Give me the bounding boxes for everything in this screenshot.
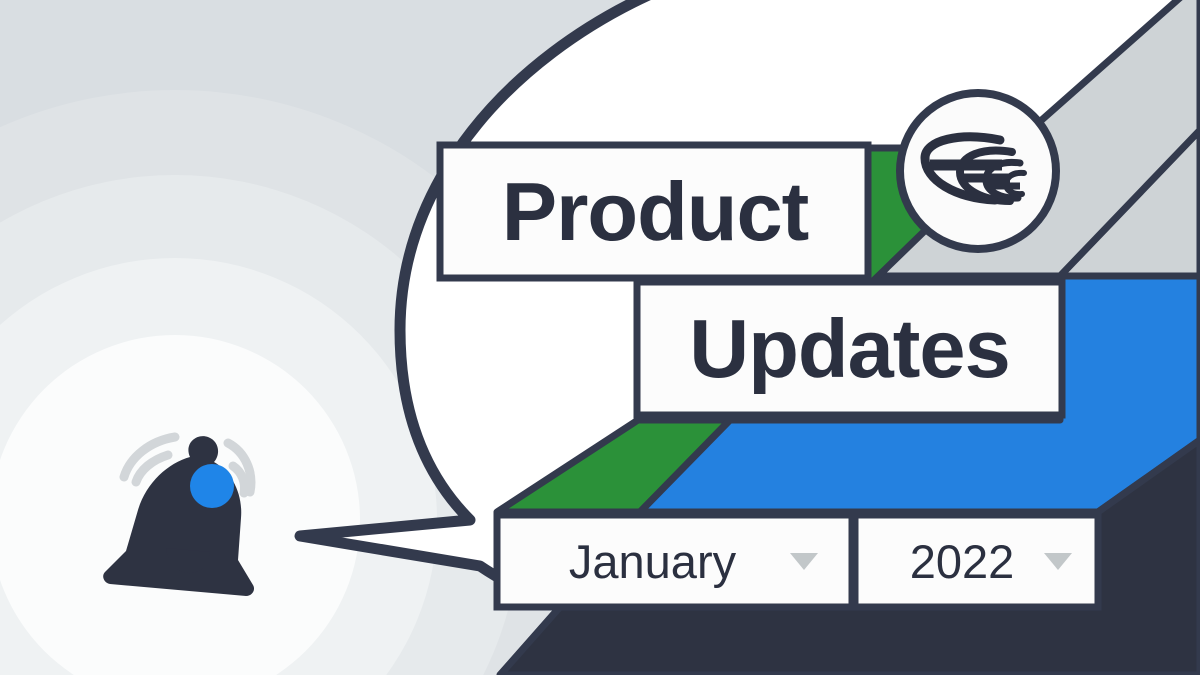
product-box <box>440 145 868 278</box>
updates-box <box>637 282 1062 415</box>
month-dropdown[interactable]: January <box>497 515 852 607</box>
chevron-down-icon[interactable] <box>1044 553 1072 570</box>
chevron-down-icon[interactable] <box>790 553 818 570</box>
year-dropdown[interactable]: 2022 <box>858 515 1098 607</box>
month-dropdown-value: January <box>497 534 790 589</box>
banner-canvas: Product Updates January 2022 <box>0 0 1200 675</box>
year-dropdown-value: 2022 <box>858 534 1044 589</box>
